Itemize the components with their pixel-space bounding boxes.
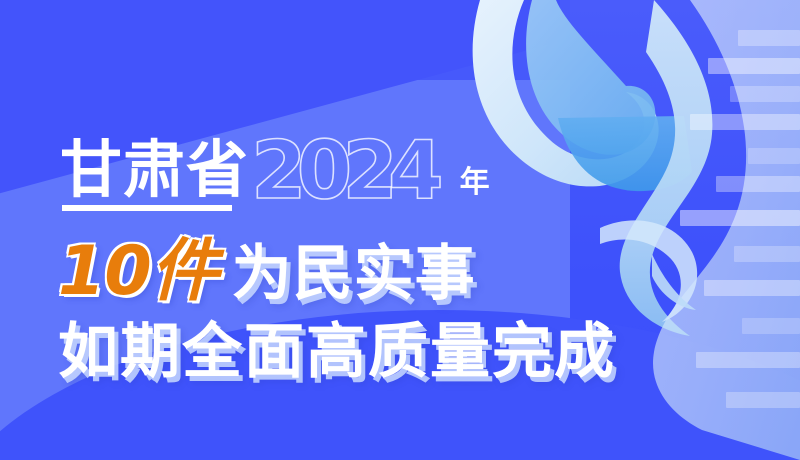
completion-status-line: 如期全面高质量完成 bbox=[58, 322, 616, 382]
year-number-outline: 2024 bbox=[251, 140, 434, 202]
headline-underline bbox=[62, 205, 232, 211]
headline-line-2: 10件 为民实事 bbox=[58, 238, 476, 318]
year-unit-label: 年 bbox=[460, 168, 490, 198]
item-count-highlight: 10件 bbox=[58, 238, 218, 306]
promo-banner: 甘肃省 2024 年 10件 为民实事 如期全面高质量完成 bbox=[0, 0, 800, 460]
item-count-subject: 为民实事 bbox=[232, 244, 476, 304]
headline-group: 甘肃省 2024 年 10件 为民实事 如期全面高质量完成 bbox=[0, 0, 760, 460]
headline-line-1: 甘肃省 2024 年 bbox=[60, 126, 490, 202]
province-name: 甘肃省 bbox=[60, 140, 249, 202]
